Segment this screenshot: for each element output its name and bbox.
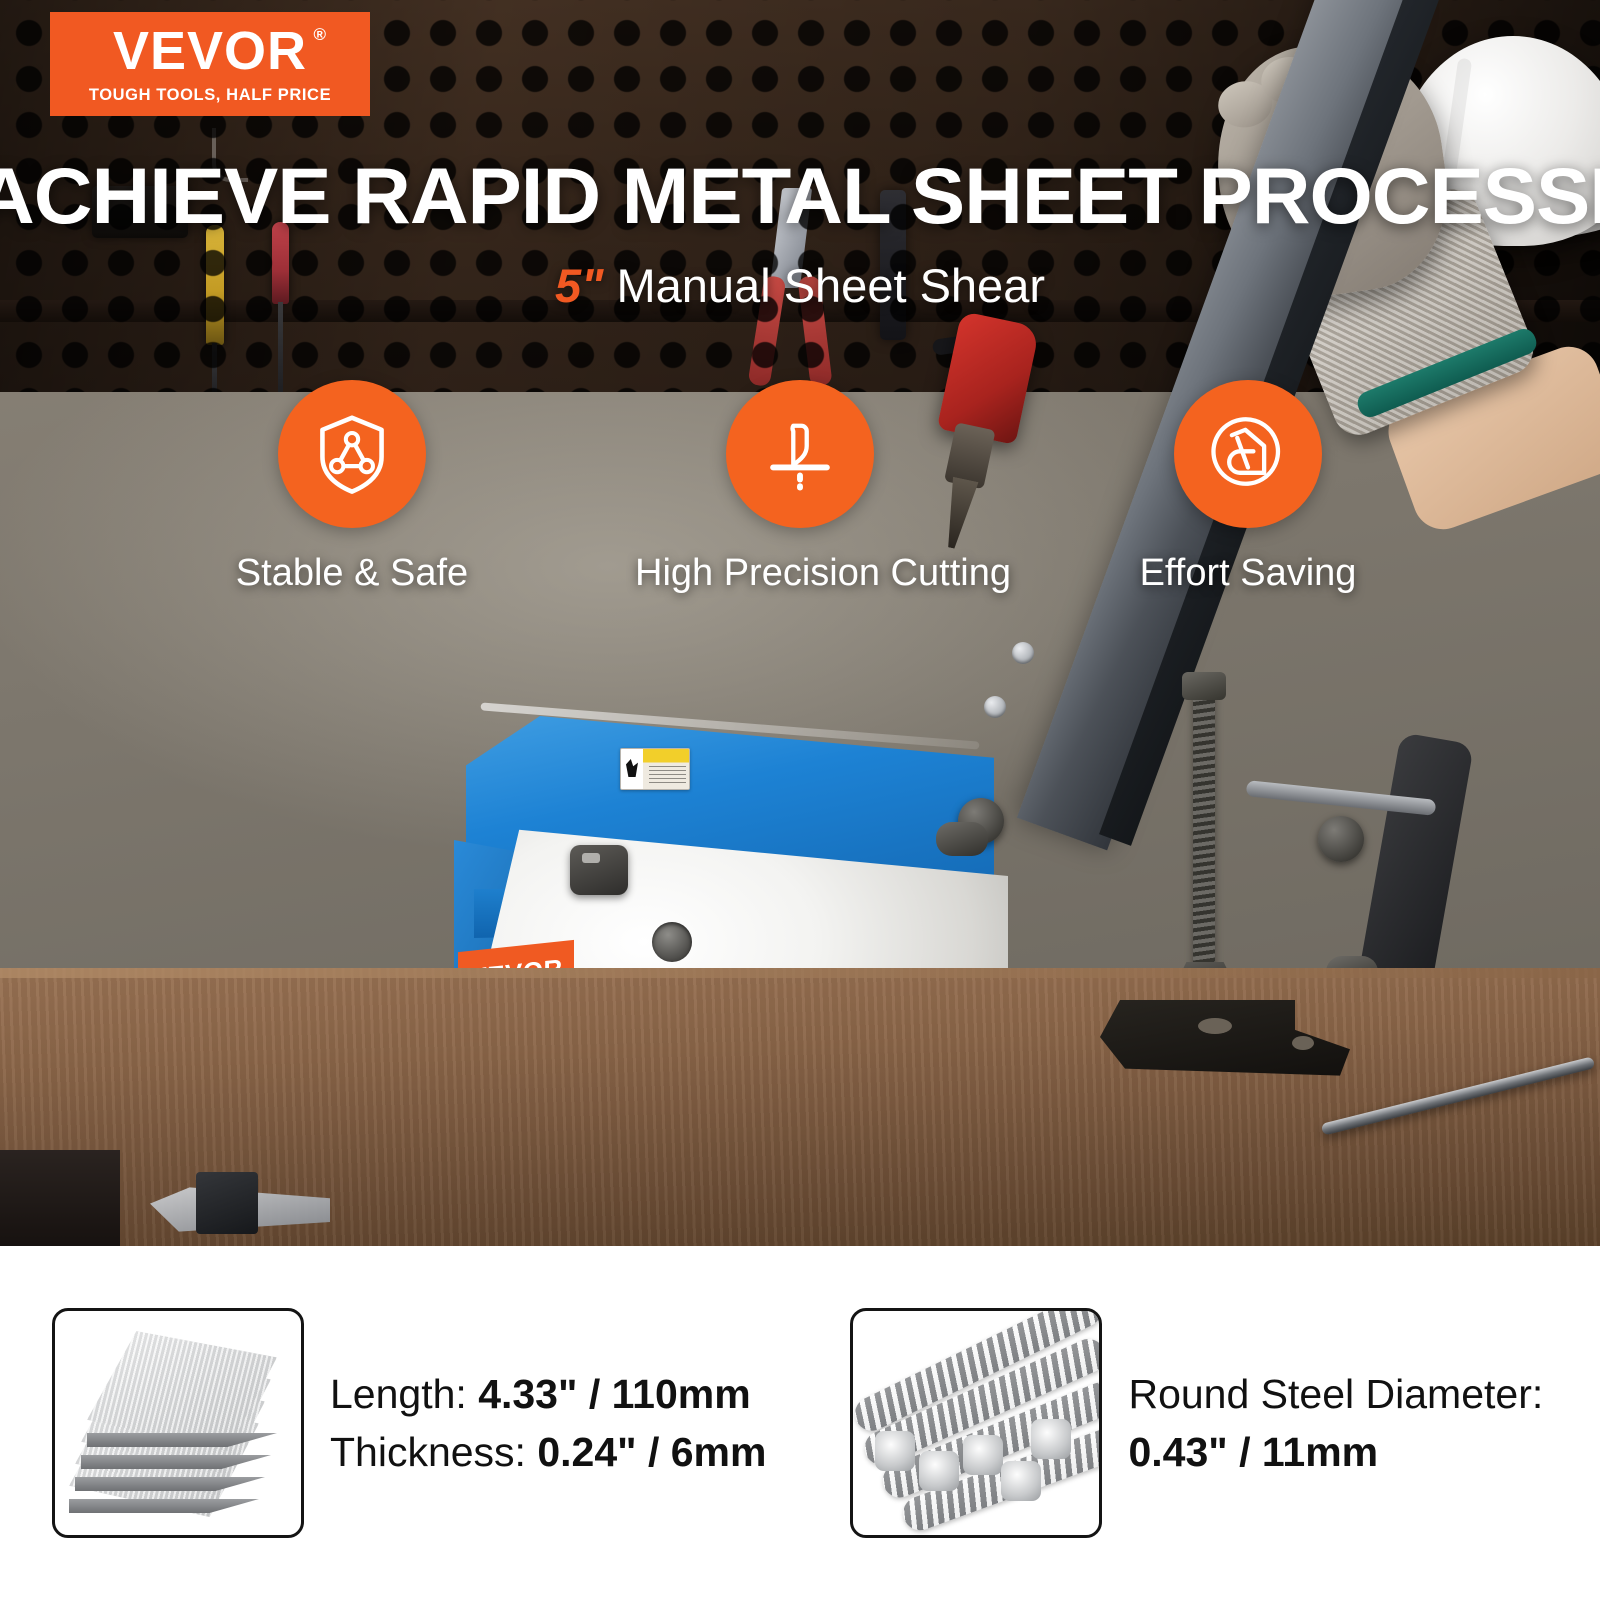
registered-trademark-icon: ® — [314, 26, 328, 43]
spec-label-thickness: Thickness: — [330, 1429, 537, 1475]
page-headline: ACHIEVE RAPID METAL SHEET PROCESSING — [0, 150, 1600, 242]
spec-line-diameter-label: Round Steel Diameter: — [1128, 1365, 1543, 1423]
logo-text: VEVOR — [113, 21, 307, 81]
plate-hole — [652, 922, 692, 962]
feature-icon-circle — [1174, 380, 1322, 528]
page-subtitle: 5" Manual Sheet Shear — [0, 258, 1600, 313]
safety-warning-sticker — [620, 748, 690, 790]
feature-stable-safe: Stable & Safe — [187, 380, 517, 595]
spec-sheet-text: Length: 4.33" / 110mm Thickness: 0.24" /… — [330, 1365, 766, 1481]
feature-label: High Precision Cutting — [635, 552, 965, 595]
spec-line-thickness: Thickness: 0.24" / 6mm — [330, 1423, 766, 1481]
spec-round-steel-text: Round Steel Diameter: 0.43" / 11mm — [1128, 1365, 1543, 1481]
subtitle-rest: Manual Sheet Shear — [603, 259, 1045, 312]
hold-down-pin — [936, 822, 988, 856]
spec-sheet-capacity: Length: 4.33" / 110mm Thickness: 0.24" /… — [52, 1308, 766, 1538]
clamp-screw-head — [1182, 672, 1226, 700]
specifications-panel: Length: 4.33" / 110mm Thickness: 0.24" /… — [0, 1246, 1600, 1600]
feature-icon-circle — [726, 380, 874, 528]
bracket-slot — [1198, 1018, 1232, 1034]
logo-tagline: TOUGH TOOLS, HALF PRICE — [89, 86, 331, 105]
feature-label: Effort Saving — [1083, 552, 1413, 595]
workbench-dark-corner — [0, 1150, 120, 1246]
feature-icon-circle — [278, 380, 426, 528]
shield-triangle-icon — [309, 411, 395, 497]
spec-value-thickness: 0.24" / 6mm — [537, 1429, 766, 1475]
caliper-body — [196, 1172, 258, 1234]
lever-bolt-upper — [1012, 642, 1034, 664]
spec-line-length: Length: 4.33" / 110mm — [330, 1365, 766, 1423]
feature-highlights: Stable & Safe High Precision Cutting — [0, 380, 1600, 595]
hero-product-photo: VEVOR VEVOR® TOUGH TOOLS, HALF PRICE ACH… — [0, 0, 1600, 1246]
feature-effort-saving: Effort Saving — [1083, 380, 1413, 595]
spec-value-length: 4.33" / 110mm — [478, 1371, 750, 1417]
subtitle-size: 5" — [555, 259, 603, 312]
rebar-bundle-image — [850, 1308, 1102, 1538]
feature-high-precision-cutting: High Precision Cutting — [635, 380, 965, 595]
logo-wordmark: VEVOR® — [113, 24, 307, 78]
blade-crosshair-icon — [757, 411, 843, 497]
bracket-hole — [1292, 1036, 1314, 1050]
adjustment-knob — [570, 845, 628, 895]
workbench-edge — [0, 968, 1600, 978]
spec-round-steel-capacity: Round Steel Diameter: 0.43" / 11mm — [850, 1308, 1543, 1538]
spec-label-length: Length: — [330, 1371, 478, 1417]
pivot-joint-right — [1318, 816, 1364, 862]
spec-value-diameter: 0.43" / 11mm — [1128, 1429, 1378, 1475]
vevor-logo: VEVOR® TOUGH TOOLS, HALF PRICE — [50, 12, 370, 116]
hammer-circle-icon — [1205, 411, 1291, 497]
clamp-screw-thread — [1193, 690, 1215, 976]
stacked-metal-sheets-image — [52, 1308, 304, 1538]
feature-label: Stable & Safe — [187, 552, 517, 595]
